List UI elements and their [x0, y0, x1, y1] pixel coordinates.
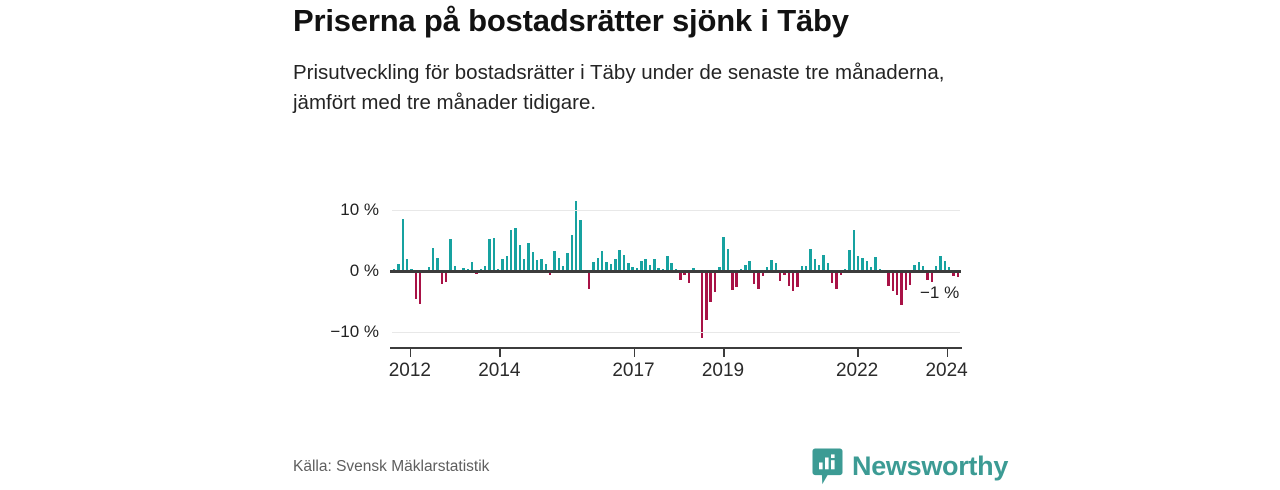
- chart-bar: [792, 271, 794, 291]
- chart-bar: [857, 256, 859, 271]
- chart-bar: [623, 255, 625, 271]
- chart-bar: [701, 271, 703, 338]
- chart-bar: [553, 251, 555, 271]
- chart-bar: [558, 258, 560, 271]
- chart-bar: [510, 230, 512, 271]
- chart-bar: [788, 271, 790, 286]
- x-tick-label: 2012: [389, 360, 431, 382]
- chart-bar: [506, 256, 508, 271]
- chart-bar: [527, 243, 529, 271]
- chart-bar: [432, 248, 434, 271]
- y-tick-label: 10 %: [340, 200, 379, 220]
- chart-bar: [419, 271, 421, 304]
- x-tick: [857, 349, 859, 357]
- chart-container: 10 %0 %−10 % −1 % 2012201420172019202220…: [293, 196, 993, 396]
- chart-bar: [831, 271, 833, 283]
- chart-bar: [449, 239, 451, 271]
- x-tick: [947, 349, 949, 357]
- chart-bar: [853, 230, 855, 271]
- chart-bar: [709, 271, 711, 302]
- page-title: Priserna på bostadsrätter sjönk i Täby: [293, 2, 973, 40]
- chart-bar: [488, 239, 490, 271]
- y-tick-label: 0 %: [350, 261, 379, 281]
- plot-area: −1 %: [392, 196, 960, 346]
- chart-bar: [415, 271, 417, 299]
- newsworthy-logo[interactable]: Newsworthy: [812, 448, 1008, 485]
- chart-bar: [796, 271, 798, 287]
- chart-bar: [601, 251, 603, 271]
- chart-bar: [566, 253, 568, 271]
- chart-bar: [666, 256, 668, 271]
- x-tick-label: 2022: [836, 360, 878, 382]
- chart-bar: [905, 271, 907, 290]
- chart-bar: [861, 258, 863, 271]
- x-tick-label: 2024: [925, 360, 967, 382]
- chart-bar: [848, 250, 850, 271]
- y-axis: 10 %0 %−10 %: [293, 196, 379, 346]
- chart-footer: Källa: Svensk Mäklarstatistik Newsworthy: [0, 440, 1280, 480]
- chart-bar: [900, 271, 902, 305]
- x-tick: [499, 349, 501, 357]
- gridline: [392, 332, 960, 333]
- value-annotation: −1 %: [920, 283, 959, 303]
- chart-bar: [753, 271, 755, 284]
- chart-page: Priserna på bostadsrätter sjönk i Täby P…: [0, 0, 1280, 480]
- chart-bar: [896, 271, 898, 295]
- x-tick-label: 2017: [612, 360, 654, 382]
- chart-bar: [575, 201, 577, 271]
- chart-bar: [809, 249, 811, 271]
- chart-bar: [757, 271, 759, 289]
- x-axis-line: [390, 347, 962, 349]
- chart-bar: [441, 271, 443, 284]
- zero-line: [390, 270, 961, 273]
- chart-bar: [618, 250, 620, 271]
- chart-bar: [688, 271, 690, 283]
- x-tick: [723, 349, 725, 357]
- x-axis: 201220142017201920222024: [390, 347, 962, 377]
- x-tick-label: 2019: [702, 360, 744, 382]
- chart-bar: [532, 252, 534, 271]
- chart-bar: [939, 256, 941, 271]
- chart-bar: [579, 220, 581, 271]
- chart-bar: [514, 228, 516, 271]
- gridline: [392, 210, 960, 211]
- chart-bar: [571, 235, 573, 271]
- x-tick: [410, 349, 412, 357]
- chart-bar: [493, 238, 495, 271]
- chart-header: Priserna på bostadsrätter sjönk i Täby P…: [293, 2, 973, 118]
- x-tick-label: 2014: [478, 360, 520, 382]
- x-tick: [634, 349, 636, 357]
- chart-bar: [519, 245, 521, 271]
- chart-bar: [731, 271, 733, 290]
- chart-bar: [705, 271, 707, 320]
- source-note: Källa: Svensk Mäklarstatistik: [293, 458, 489, 476]
- chart-bar: [722, 237, 724, 271]
- chart-bar: [445, 271, 447, 282]
- chart-bar: [727, 249, 729, 271]
- chart-bar: [887, 271, 889, 286]
- chart-bar: [909, 271, 911, 285]
- chart-bar: [822, 255, 824, 271]
- chart-bar: [892, 271, 894, 291]
- chart-bar: [835, 271, 837, 289]
- chart-bar: [588, 271, 590, 289]
- page-subtitle: Prisutveckling för bostadsrätter i Täby …: [293, 58, 973, 117]
- chart-bar: [714, 271, 716, 292]
- bar-chart-speech-bubble-icon: [812, 448, 843, 485]
- chart-bar: [402, 219, 404, 271]
- chart-bar: [931, 271, 933, 282]
- y-tick-label: −10 %: [330, 322, 379, 342]
- logo-wordmark: Newsworthy: [852, 451, 1008, 482]
- chart-bar: [735, 271, 737, 287]
- chart-bar: [874, 257, 876, 271]
